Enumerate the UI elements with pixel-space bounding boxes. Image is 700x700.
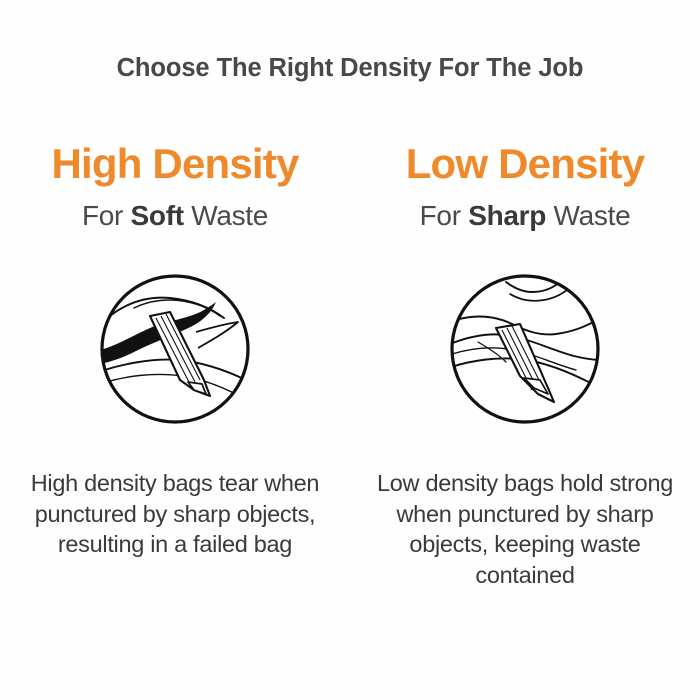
page-title: Choose The Right Density For The Job xyxy=(0,54,700,82)
infographic-page: Choose The Right Density For The Job Hig… xyxy=(0,0,700,700)
low-density-subtitle-strong: Sharp xyxy=(468,200,546,231)
low-density-subtitle-suffix: Waste xyxy=(546,200,630,231)
comparison-columns: High Density For Soft Waste xyxy=(0,140,700,590)
column-high-density: High Density For Soft Waste xyxy=(0,140,350,590)
column-low-density: Low Density For Sharp Waste xyxy=(350,140,700,590)
intact-bag-holding-sharp-object-icon xyxy=(448,272,602,426)
high-density-caption: High density bags tear when punctured by… xyxy=(15,468,335,560)
high-density-subtitle-suffix: Waste xyxy=(184,200,268,231)
low-density-subtitle: For Sharp Waste xyxy=(420,200,631,232)
low-density-heading: Low Density xyxy=(406,140,645,187)
low-density-caption: Low density bags hold strong when punctu… xyxy=(360,468,690,590)
low-density-subtitle-prefix: For xyxy=(420,200,469,231)
torn-bag-punctured-by-sharp-object-icon xyxy=(98,272,252,426)
high-density-subtitle: For Soft Waste xyxy=(82,200,268,232)
high-density-subtitle-prefix: For xyxy=(82,200,131,231)
high-density-heading: High Density xyxy=(51,140,298,187)
high-density-subtitle-strong: Soft xyxy=(131,200,184,231)
